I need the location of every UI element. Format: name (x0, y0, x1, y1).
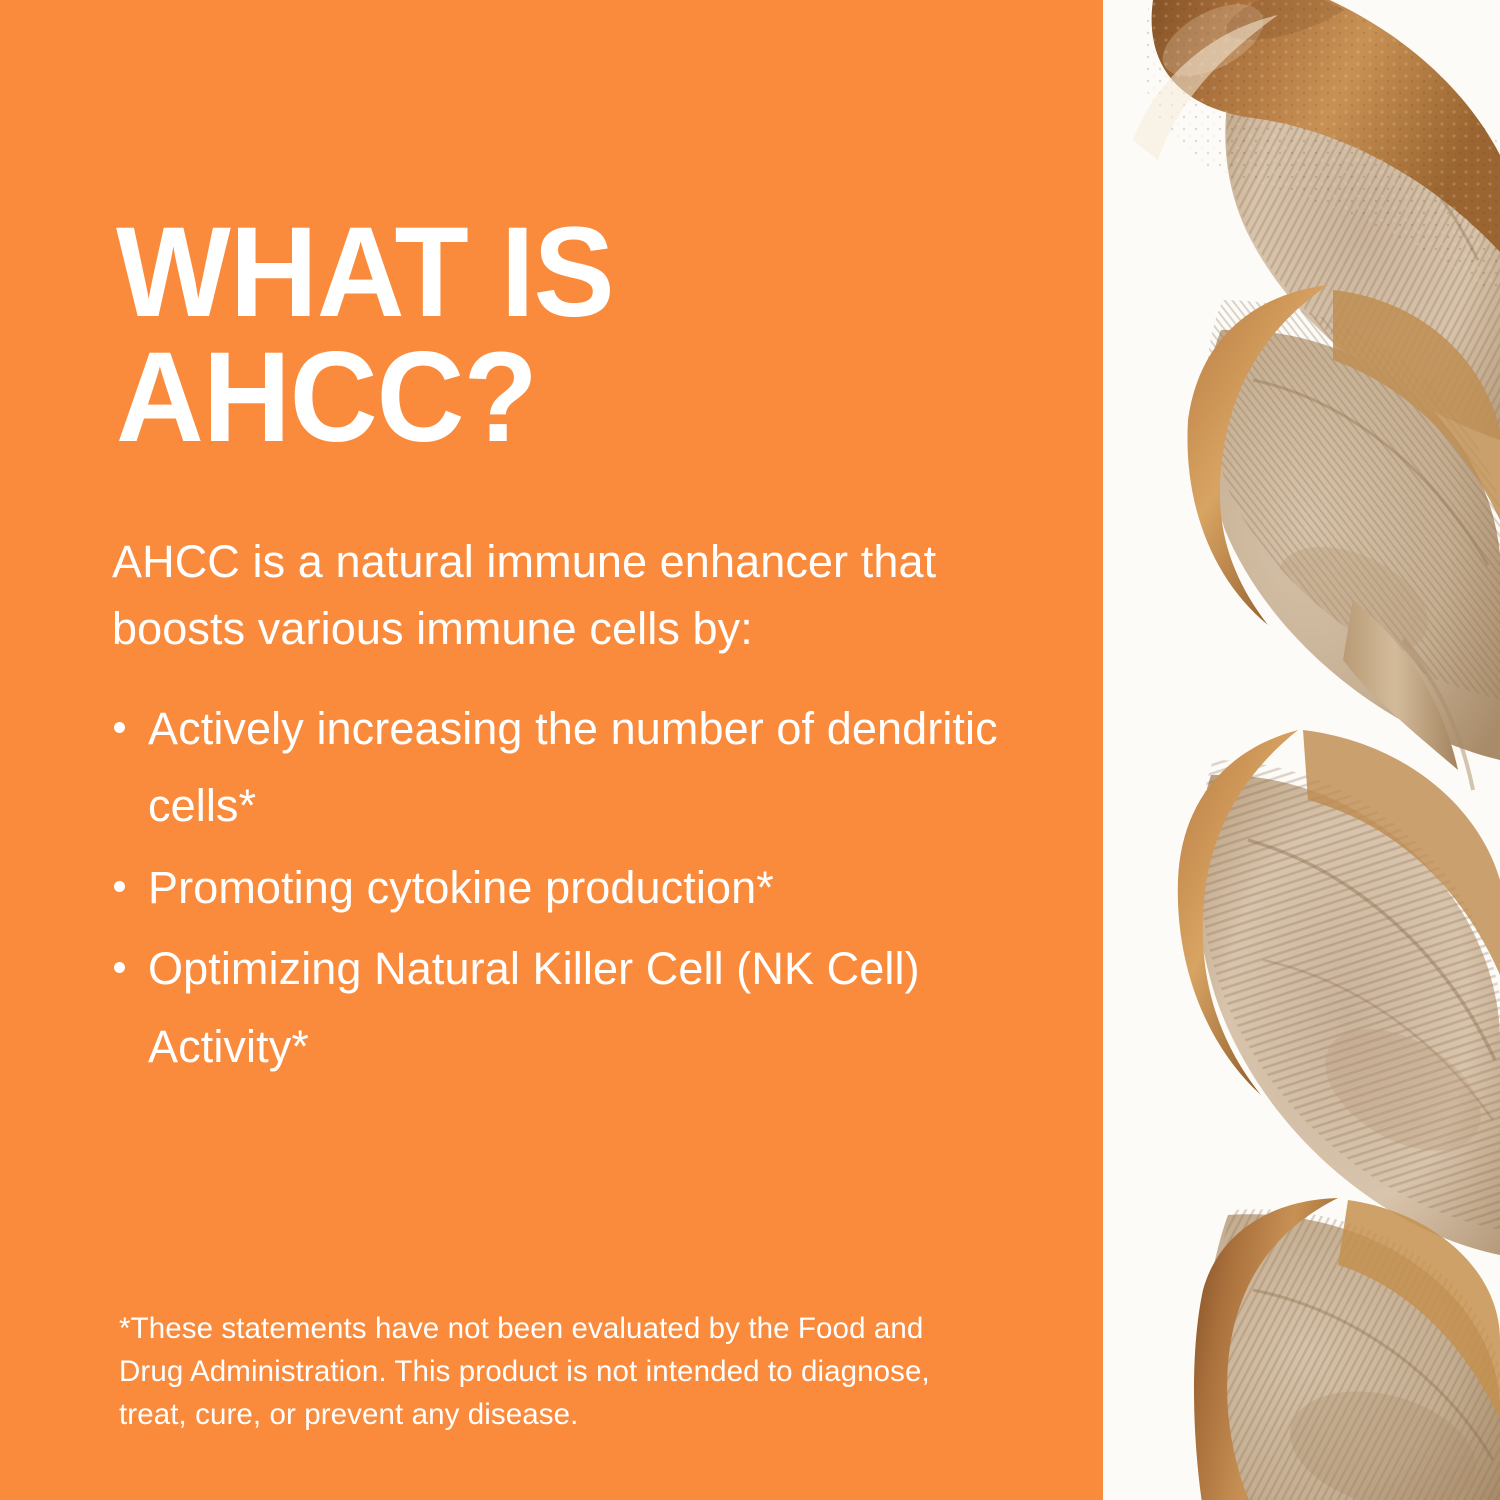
promo-graphic: WHAT IS AHCC? AHCC is a natural immune e… (0, 0, 1500, 1500)
list-item: Actively increasing the number of dendri… (112, 690, 1012, 845)
mushroom-photo (1103, 0, 1500, 1500)
list-item-label: Promoting cytokine production* (148, 862, 774, 913)
list-item-label: Optimizing Natural Killer Cell (NK Cell)… (148, 943, 920, 1071)
bullet-dot-icon (114, 881, 125, 892)
bullet-dot-icon (114, 722, 125, 733)
bullet-dot-icon (114, 962, 125, 973)
page-title: WHAT IS AHCC? (116, 210, 971, 461)
intro-paragraph: AHCC is a natural immune enhancer that b… (112, 529, 972, 662)
benefits-list: Actively increasing the number of dendri… (112, 690, 1012, 1089)
list-item-label: Actively increasing the number of dendri… (148, 703, 998, 831)
orange-content-panel: WHAT IS AHCC? AHCC is a natural immune e… (0, 0, 1103, 1500)
list-item: Promoting cytokine production* (112, 849, 1012, 926)
mushroom-illustration (1103, 0, 1500, 1500)
fda-disclaimer: *These statements have not been evaluate… (119, 1307, 969, 1437)
list-item: Optimizing Natural Killer Cell (NK Cell)… (112, 930, 1012, 1085)
